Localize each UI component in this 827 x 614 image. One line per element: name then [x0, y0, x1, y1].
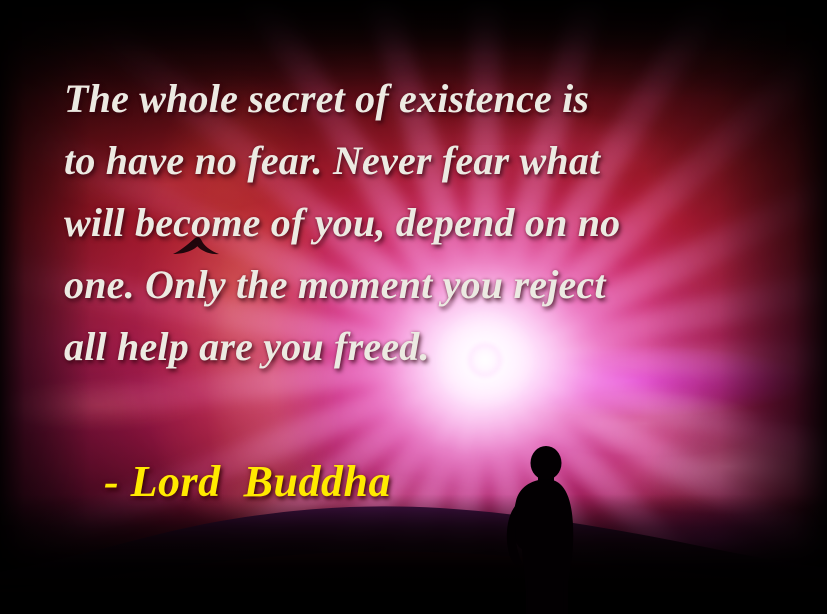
- quote-line-5: all help are you freed.: [64, 316, 764, 378]
- quote-poster: The whole secret of existence is to have…: [0, 0, 827, 614]
- quote-line-4: one. Only the moment you reject: [64, 254, 764, 316]
- quote-line-3: will become of you, depend on no: [64, 192, 764, 254]
- quote-text-block: The whole secret of existence is to have…: [64, 68, 764, 378]
- monk-silhouette-icon: [492, 443, 596, 614]
- quote-line-2: to have no fear. Never fear what: [64, 130, 764, 192]
- quote-attribution: - Lord Buddha: [104, 455, 391, 509]
- quote-line-1: The whole secret of existence is: [64, 68, 764, 130]
